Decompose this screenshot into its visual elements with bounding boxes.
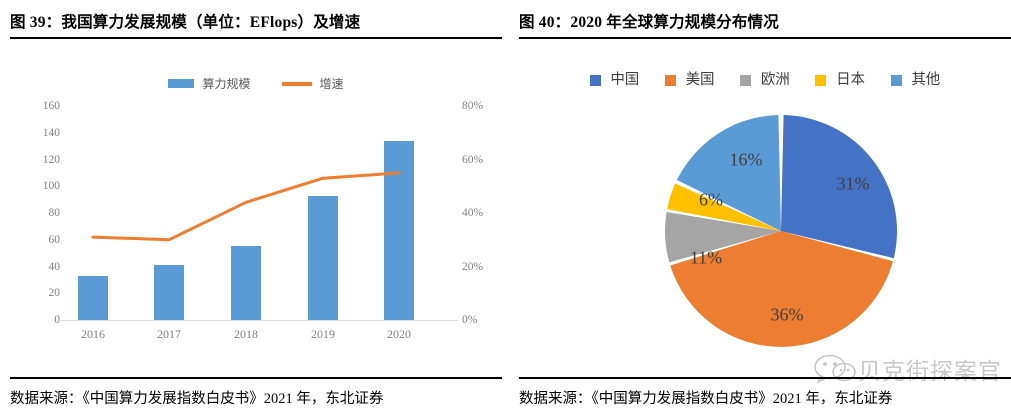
growth-rate-polyline bbox=[93, 173, 399, 240]
pie-svg bbox=[519, 0, 1011, 419]
figure-40-chart: 31% 36% 11% 6% 16% bbox=[519, 0, 1011, 419]
y-tick-left-60: 60 bbox=[49, 234, 61, 246]
y-axis-left: 160 140 120 100 80 60 40 20 0 bbox=[10, 106, 60, 320]
figure-39-source: 数据来源：《中国算力发展指数白皮书》2021 年，东北证券 bbox=[10, 387, 502, 408]
figure-39-chart: 算力规模 增速 160 140 120 100 80 60 40 20 0 bbox=[10, 55, 502, 355]
y-tick-left-40: 40 bbox=[49, 261, 61, 273]
y-tick-left-160: 160 bbox=[43, 100, 60, 112]
pie-label-usa: 36% bbox=[771, 305, 804, 326]
legend-item-suanli-guimo: 算力规模 bbox=[168, 75, 250, 92]
legend-label-zengsu: 增速 bbox=[320, 77, 344, 91]
pie-label-japan: 6% bbox=[699, 190, 723, 211]
figure-39-legend: 算力规模 增速 bbox=[10, 75, 502, 92]
y-tick-right-0pct: 0% bbox=[462, 314, 477, 326]
y-tick-left-140: 140 bbox=[43, 127, 60, 139]
figure-40-source: 数据来源：《中国算力发展指数白皮书》2021 年，东北证券 bbox=[519, 387, 1011, 408]
x-tick-2019: 2019 bbox=[311, 327, 335, 342]
figure-39-title-rule bbox=[10, 37, 502, 39]
y-tick-left-20: 20 bbox=[49, 287, 61, 299]
y-tick-left-120: 120 bbox=[43, 154, 60, 166]
figure-page: 图 39：我国算力发展规模（单位：EFlops）及增速 算力规模 增速 160 … bbox=[0, 0, 1011, 419]
y-tick-left-100: 100 bbox=[43, 180, 60, 192]
y-axis-right: 80% 60% 40% 20% 0% bbox=[462, 106, 506, 320]
y-tick-right-60pct: 60% bbox=[462, 154, 483, 166]
legend-label-suanli-guimo: 算力规模 bbox=[202, 77, 250, 91]
legend-bar-swatch-icon bbox=[168, 79, 194, 88]
pie-label-europe: 11% bbox=[690, 248, 722, 269]
legend-line-swatch-icon bbox=[282, 82, 312, 86]
x-axis-baseline bbox=[58, 320, 458, 321]
y-tick-right-40pct: 40% bbox=[462, 207, 483, 219]
pie-label-china: 31% bbox=[837, 174, 870, 195]
figure-39-source-rule bbox=[10, 377, 502, 379]
figure-39-title: 图 39：我国算力发展规模（单位：EFlops）及增速 bbox=[10, 10, 502, 32]
y-tick-right-20pct: 20% bbox=[462, 261, 483, 273]
y-tick-left-80: 80 bbox=[49, 207, 61, 219]
plot-region bbox=[68, 106, 450, 320]
figure-40-source-rule bbox=[519, 377, 1011, 379]
figure-40-panel: 图 40：2020 年全球算力规模分布情况 中国 美国 欧洲 日本 其他 bbox=[519, 0, 1011, 419]
figure-39-panel: 图 39：我国算力发展规模（单位：EFlops）及增速 算力规模 增速 160 … bbox=[10, 0, 502, 419]
x-tick-2018: 2018 bbox=[234, 327, 258, 342]
growth-rate-line bbox=[68, 106, 450, 320]
y-tick-right-80pct: 80% bbox=[462, 100, 483, 112]
x-tick-2016: 2016 bbox=[81, 327, 105, 342]
pie-label-others: 16% bbox=[730, 150, 763, 171]
x-tick-2020: 2020 bbox=[387, 327, 411, 342]
legend-item-zengsu: 增速 bbox=[282, 75, 344, 92]
x-tick-2017: 2017 bbox=[157, 327, 181, 342]
